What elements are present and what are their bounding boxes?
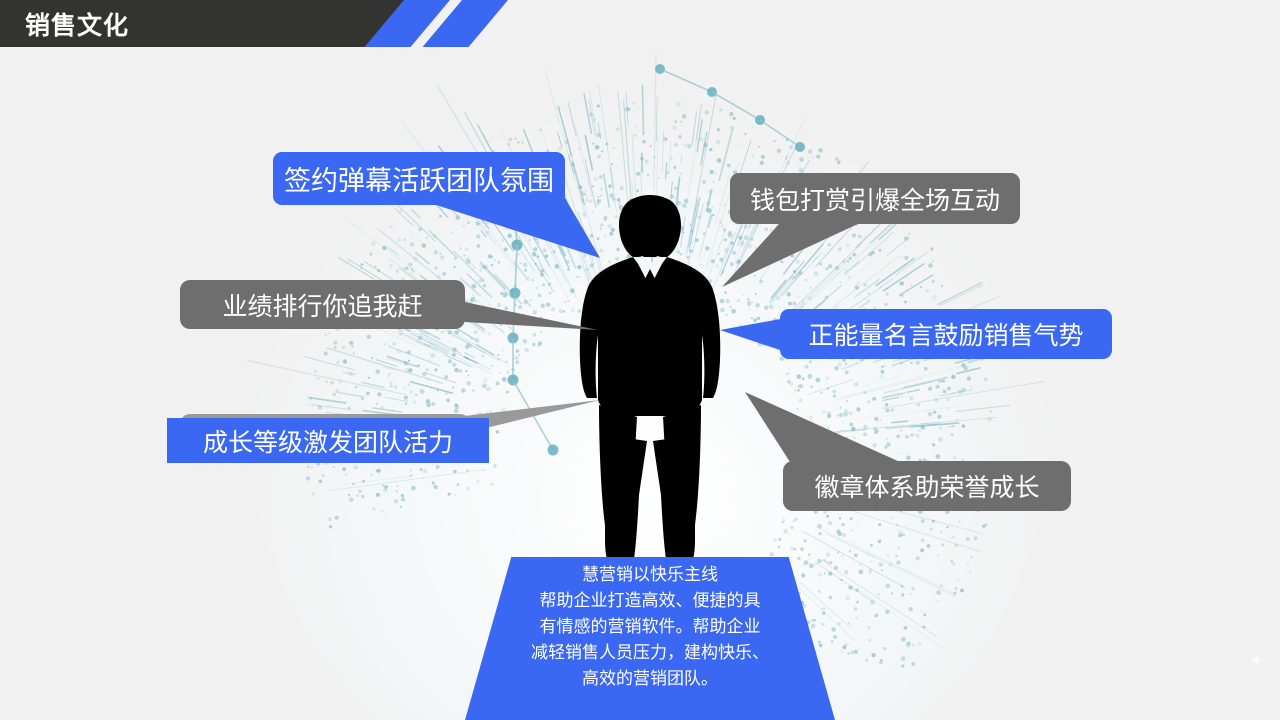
callout-danmu[interactable]: 签约弹幕活跃团队氛围 xyxy=(273,152,565,205)
pointer-rank xyxy=(455,300,598,330)
callout-wallet-label: 钱包打赏引爆全场互动 xyxy=(730,181,1020,217)
callout-quote-label: 正能量名言鼓励销售气势 xyxy=(780,316,1112,352)
callout-wallet[interactable]: 钱包打赏引爆全场互动 xyxy=(730,173,1020,224)
callout-badge-label: 徽章体系助荣誉成长 xyxy=(783,468,1071,504)
callout-growth-label: 成长等级激发团队活力 xyxy=(167,423,489,459)
pointer-badge xyxy=(745,392,900,462)
callout-quote[interactable]: 正能量名言鼓励销售气势 xyxy=(780,309,1112,359)
callout-badge[interactable]: 徽章体系助荣誉成长 xyxy=(783,461,1071,511)
summary-line-1: 慧营销以快乐主线 xyxy=(465,562,835,588)
pointer-wallet xyxy=(722,223,860,287)
page-title: 销售文化 xyxy=(25,6,129,42)
pointer-danmu xyxy=(430,198,600,258)
callout-rank[interactable]: 业绩排行你追我赶 xyxy=(180,280,465,329)
summary-line-3: 有情感的营销软件。帮助企业 xyxy=(465,614,835,640)
callout-rank-label: 业绩排行你追我赶 xyxy=(180,287,465,323)
summary-panel: 慧营销以快乐主线 帮助企业打造高效、便捷的具 有情感的营销软件。帮助企业 减轻销… xyxy=(465,557,835,720)
pointer-quote xyxy=(720,318,786,352)
callout-growth[interactable]: 成长等级激发团队活力 xyxy=(167,418,489,463)
summary-line-5: 高效的营销团队。 xyxy=(465,666,835,692)
corner-mark-icon: ✳ xyxy=(1250,654,1266,670)
summary-line-4: 减轻销售人员压力，建构快乐、 xyxy=(465,640,835,666)
callout-danmu-label: 签约弹幕活跃团队氛围 xyxy=(273,159,565,198)
summary-panel-text: 慧营销以快乐主线 帮助企业打造高效、便捷的具 有情感的营销软件。帮助企业 减轻销… xyxy=(465,562,835,692)
slide-canvas: 签约弹幕活跃团队氛围 钱包打赏引爆全场互动 业绩排行你追我赶 正能量名言鼓励销售… xyxy=(0,0,1280,720)
header-band: 销售文化 xyxy=(0,0,1280,47)
summary-line-2: 帮助企业打造高效、便捷的具 xyxy=(465,588,835,614)
